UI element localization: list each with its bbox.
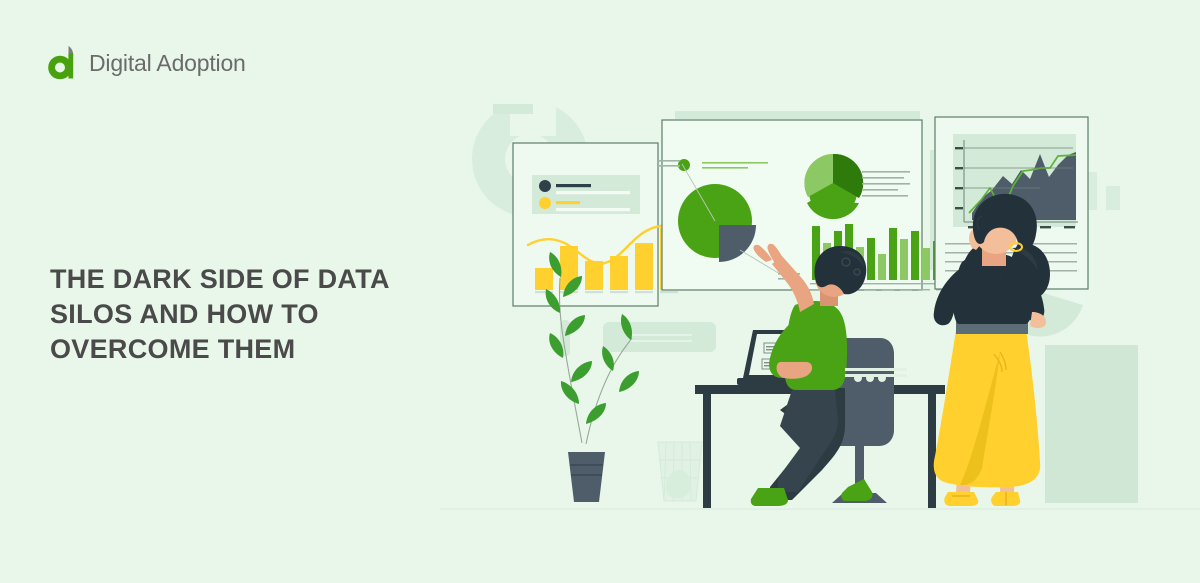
left-panel (513, 143, 683, 306)
legend-dot-dark (539, 180, 551, 192)
illustration-analytics-scene (440, 0, 1200, 583)
brand-logo[interactable]: Digital Adoption (46, 45, 246, 81)
center-panel (658, 111, 944, 290)
legend-dot-yellow (539, 197, 551, 209)
digital-adoption-a-leaf-logo-icon (46, 45, 80, 81)
wastebasket (658, 442, 702, 501)
brand-name: Digital Adoption (89, 50, 246, 77)
page-title: THE DARK SIDE OF DATA SILOS AND HOW TO O… (50, 262, 470, 367)
poster-canvas: Digital Adoption THE DARK SIDE OF DATA S… (0, 0, 1200, 583)
